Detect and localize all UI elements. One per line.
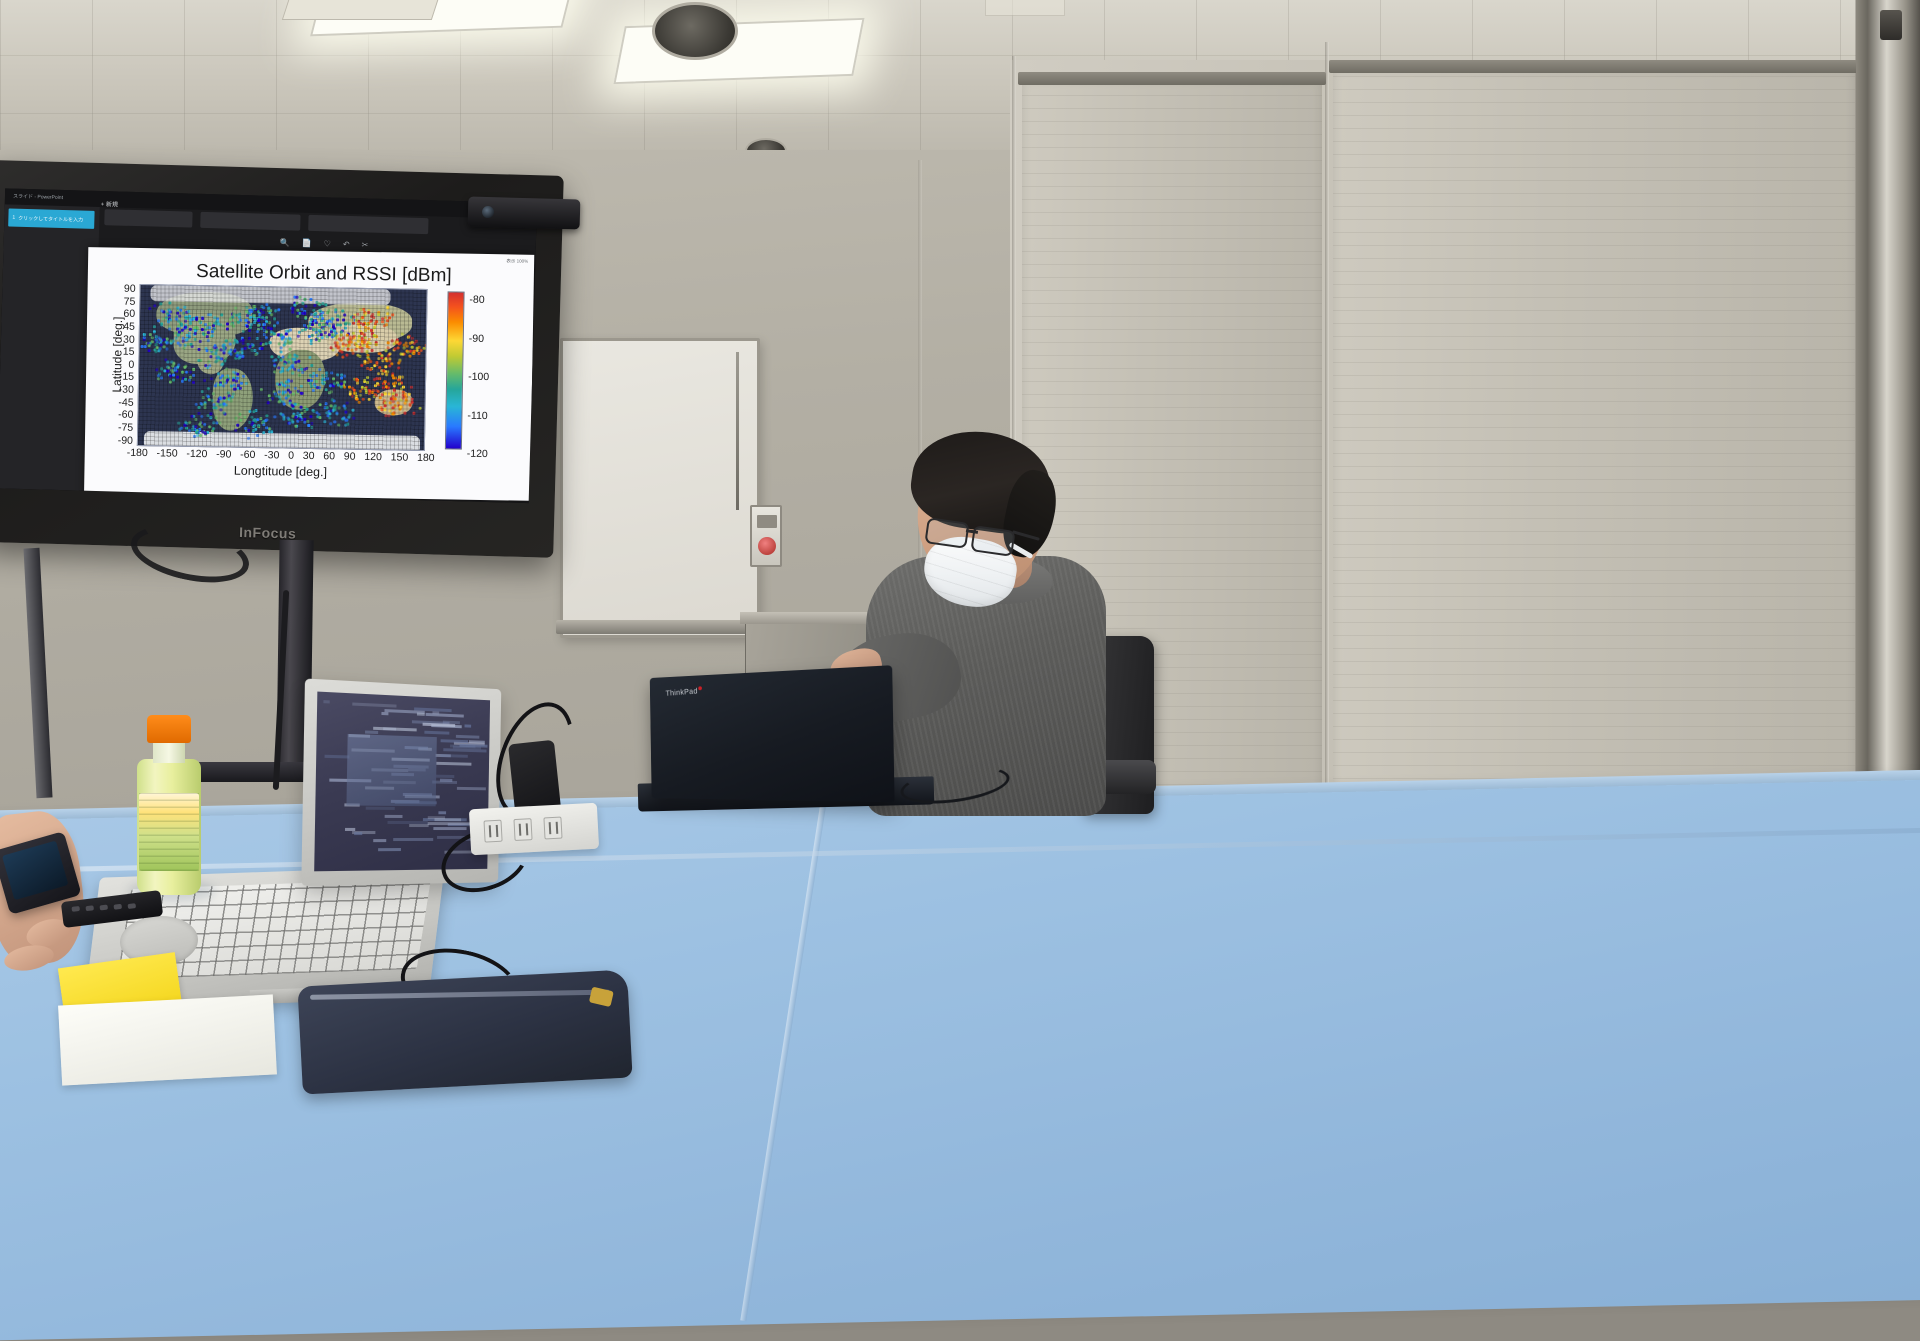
app-title-text: スライド - PowerPoint (13, 193, 63, 201)
screen-text-line (465, 724, 471, 727)
power-socket-3[interactable] (543, 817, 562, 840)
chart-xtick: -150 (156, 448, 177, 459)
ribbon-tab-1[interactable] (104, 209, 192, 227)
whiteboard (560, 338, 760, 638)
screen-text-line (388, 821, 429, 824)
slide-thumbnail-1[interactable]: 1 クリックしてタイトルを入力 (8, 208, 94, 228)
bottle-label (139, 793, 199, 871)
screen-text-line (422, 723, 455, 727)
slide-number: 1 (12, 215, 15, 221)
chart-ytick: 75 (124, 296, 136, 307)
slide-canvas[interactable]: 表示 100% Satellite Orbit and RSSI [dBm] L… (84, 247, 534, 501)
add-slide-button[interactable]: + 新規 (101, 199, 118, 208)
screen-text-line (393, 838, 433, 841)
emergency-switch-panel[interactable] (750, 505, 782, 567)
presentation-app[interactable]: スライド - PowerPoint 1 クリックしてタイトルを入力 + 新規 🔍… (0, 188, 537, 503)
screen-text-line (428, 816, 446, 819)
screen-text-line (443, 748, 487, 752)
screen-text-line (440, 779, 452, 782)
chart-ytick: -45 (118, 397, 133, 408)
webcam-bar (468, 197, 581, 230)
chart-yaxis-ticks: 9075604530150-15-30-45-60-75-90 (97, 283, 136, 446)
screen-text-line (433, 827, 466, 830)
chart-xtick: 120 (364, 452, 382, 463)
chart-colorbar-ticks: -80-90-100-110-120 (467, 286, 470, 456)
screen-text-line (437, 775, 454, 778)
screen-text-line (366, 807, 395, 810)
screen-text-line (352, 702, 396, 707)
power-strip[interactable] (469, 803, 599, 856)
pouch-zipper (310, 990, 610, 1000)
ceiling-light-2 (613, 18, 864, 84)
ribbon-tab-3[interactable] (308, 215, 428, 234)
chart-ytick: -15 (119, 372, 134, 383)
screen-text-line (424, 730, 449, 734)
thinkpad-logo: ThinkPad (665, 686, 702, 698)
screen-text-line (456, 735, 479, 739)
smartphone-screen[interactable] (2, 841, 69, 901)
power-socket-2[interactable] (513, 818, 532, 841)
screen-text-line (426, 713, 464, 718)
chart-ytick: 0 (128, 360, 134, 371)
chart-xlabel: Longtitude [deg.] (136, 462, 424, 481)
screen-text-line (436, 761, 471, 765)
chart-ytick: 45 (123, 322, 135, 333)
chart-ytick: -30 (119, 385, 134, 396)
switch-slot (757, 515, 777, 528)
notebook[interactable] (58, 994, 277, 1085)
chart-ytick: -60 (118, 410, 133, 421)
chart-xtick: 30 (303, 451, 315, 462)
bottle-cap[interactable] (147, 715, 191, 743)
cut-icon[interactable]: ✂ (361, 240, 368, 249)
bottle-label-text (139, 793, 199, 871)
chart-xtick: 150 (391, 452, 409, 463)
chart-colorbar-tick: -80 (469, 294, 484, 306)
chart-ytick: 90 (124, 284, 136, 295)
screen-text-line (365, 730, 378, 733)
laptop-pouch[interactable] (297, 969, 632, 1094)
undo-icon[interactable]: ↶ (343, 240, 350, 249)
ribbon-tab-2[interactable] (200, 212, 300, 231)
power-socket-1[interactable] (483, 820, 502, 843)
emergency-button[interactable] (758, 537, 776, 555)
screen-text-line (417, 713, 425, 716)
screen-text-line (457, 787, 486, 790)
meeting-room-scene: スライド - PowerPoint 1 クリックしてタイトルを入力 + 新規 🔍… (0, 0, 1920, 1280)
screen-text-line (441, 739, 468, 743)
chart-xtick: -90 (216, 449, 231, 460)
screen-text-line (378, 848, 400, 851)
chart-xtick: -60 (240, 450, 255, 461)
chart-ytick: 30 (123, 334, 135, 345)
chart-xtick: -180 (127, 448, 148, 459)
screen-text-line (373, 839, 386, 842)
whiteboard-tray (556, 620, 766, 634)
screen-window (346, 734, 436, 806)
screen-text-line (409, 824, 429, 827)
chart-ytick: 15 (123, 347, 135, 358)
chart-xtick: 60 (323, 451, 335, 462)
camera-lens-icon (482, 206, 494, 218)
chart-xtick: 0 (288, 451, 294, 462)
screen-text-line (373, 727, 417, 732)
heart-icon[interactable]: ♡ (324, 239, 331, 248)
blind-headrail-left (1018, 72, 1326, 85)
search-icon[interactable]: 🔍 (280, 238, 290, 247)
bottle-neck (153, 741, 185, 763)
chart-colorbar-tick: -90 (469, 332, 484, 344)
blind-headrail-right (1329, 60, 1859, 73)
thinkpad-logo-dot (698, 686, 702, 690)
ceiling-light-edge (985, 0, 1065, 16)
screen-text-line (439, 811, 446, 814)
copy-icon[interactable]: 📄 (302, 239, 312, 248)
door-frame[interactable] (1856, 0, 1920, 890)
chart-ytick: 60 (123, 309, 135, 320)
screen-text-line (323, 700, 329, 703)
door-hinge-top (1880, 10, 1902, 40)
slide-status-note: 表示 100% (506, 258, 528, 264)
conference-table (0, 779, 1920, 1341)
chart-plot-area (137, 284, 428, 451)
tablecloth-seam-vertical (740, 806, 825, 1321)
chart-xtick: -30 (264, 450, 279, 461)
slide-quick-toolbar[interactable]: 🔍 📄 ♡ ↶ ✂ (280, 238, 369, 249)
pouch-zipper-pull[interactable] (589, 987, 614, 1008)
ceiling-vent-large (652, 2, 738, 60)
tablecloth-seam-horizontal (0, 827, 1920, 874)
chart-colorbar (445, 291, 465, 449)
wall-cable (736, 352, 739, 510)
chart-xtick: 90 (344, 452, 356, 463)
chart-ytick: -90 (118, 435, 133, 446)
slide-thumbnail-title: クリックしてタイトルを入力 (18, 214, 83, 223)
chart-xtick: -120 (186, 449, 207, 460)
screen-text-line (440, 754, 468, 758)
screen-text-line (354, 832, 363, 835)
display-screen[interactable]: スライド - PowerPoint 1 クリックしてタイトルを入力 + 新規 🔍… (0, 188, 537, 503)
screen-text-line (325, 755, 350, 759)
chart-xtick: 180 (417, 453, 435, 464)
chart-colorbar-tick: -100 (468, 371, 489, 383)
chart-colorbar-tick: -110 (467, 409, 487, 421)
satellite-rssi-figure: Satellite Orbit and RSSI [dBm] Latitude … (92, 261, 526, 490)
tea-bottle[interactable] (133, 715, 205, 895)
thinkpad-lid[interactable]: ThinkPad (650, 665, 895, 802)
screen-text-line (345, 828, 355, 831)
screen-text-line (427, 822, 472, 825)
screen-text-line (385, 815, 402, 818)
ceiling-light-diffuser (282, 0, 440, 20)
chart-gridlines (138, 285, 427, 450)
chart-ytick: -75 (118, 422, 133, 433)
chart-colorbar-tick: -120 (467, 448, 488, 460)
